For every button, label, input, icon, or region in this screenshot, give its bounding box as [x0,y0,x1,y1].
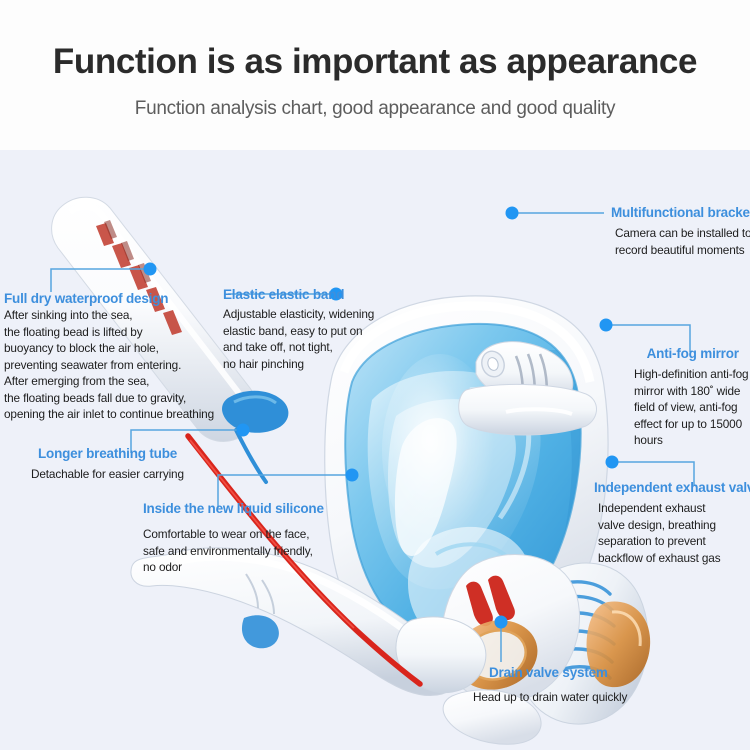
callout-line: Detachable for easier carrying [31,466,184,483]
callout-line: hours [634,432,748,449]
callout-line: Independent exhaust [598,500,750,517]
callout-full-dry-waterproof-design: Full dry waterproof design After sinking… [4,291,214,423]
callout-body: Comfortable to wear on the face, safe an… [143,526,324,576]
callout-heading: Multifunctional bracket [611,205,750,221]
callout-line: record beautiful moments [615,242,750,259]
callout-line: the floating beads fall due to gravity, [4,390,214,407]
callout-inside-the-new-liquid-silicone: Inside the new liquid silicone Comfortab… [143,501,324,576]
callout-body: Independent exhaust valve design, breath… [598,500,750,566]
callout-elastic-elastic-band: Elastic elastic band Adjustable elastici… [223,287,374,372]
callout-line: elastic band, easy to put on [223,323,374,340]
callout-line: the floating bead is lifted by [4,324,214,341]
callout-heading: Full dry waterproof design [4,291,214,307]
page-subtitle: Function analysis chart, good appearance… [0,98,750,120]
callout-line: safe and environmentally friendly, [143,543,324,560]
callout-heading: Inside the new liquid silicone [143,501,324,517]
callout-line: After sinking into the sea, [4,307,214,324]
callout-body: Camera can be installed to record beauti… [615,225,750,258]
page-title: Function is as important as appearance [0,42,750,82]
callout-body: Detachable for easier carrying [31,466,184,483]
diagram-panel: Full dry waterproof design After sinking… [0,150,750,750]
infographic-page: Function is as important as appearance F… [0,0,750,750]
callout-multifunctional-bracket: Multifunctional bracket Camera can be in… [611,205,750,258]
callout-line: no odor [143,559,324,576]
callout-line: separation to prevent [598,533,750,550]
callout-line: buoyancy to block the air hole, [4,340,214,357]
callout-line: Head up to drain water quickly [473,689,627,706]
callout-line: field of view, anti-fog [634,399,748,416]
callout-drain-valve-system: Drain valve system Head up to drain wate… [489,665,627,706]
callout-body: Adjustable elasticity, widening elastic … [223,306,374,372]
callout-line: Adjustable elasticity, widening [223,306,374,323]
callout-longer-breathing-tube: Longer breathing tube Detachable for eas… [38,446,184,483]
callout-heading: Drain valve system [489,665,627,681]
callout-line: mirror with 180˚ wide [634,383,748,400]
callout-line: valve design, breathing [598,517,750,534]
callout-body: After sinking into the sea, the floating… [4,307,214,423]
callout-independent-exhaust-valve: Independent exhaust valve Independent ex… [594,480,750,566]
callout-line: Comfortable to wear on the face, [143,526,324,543]
callout-body: High-definition anti-fog mirror with 180… [634,366,748,449]
header-band: Function is as important as appearance F… [0,0,750,150]
callout-anti-fog-mirror: Anti-fog mirror High-definition anti-fog… [637,346,748,449]
callout-heading: Independent exhaust valve [594,480,750,496]
callout-heading: Longer breathing tube [38,446,184,462]
callout-line: High-definition anti-fog [634,366,748,383]
callout-line: effect for up to 15000 [634,416,748,433]
callout-line: preventing seawater from entering. [4,357,214,374]
callout-line: opening the air inlet to continue breath… [4,406,214,423]
callout-line: Camera can be installed to [615,225,750,242]
callout-heading: Anti-fog mirror [637,346,748,362]
callout-body: Head up to drain water quickly [473,689,627,706]
callout-line: no hair pinching [223,356,374,373]
callout-line: After emerging from the sea, [4,373,214,390]
callout-line: backflow of exhaust gas [598,550,750,567]
callout-line: and take off, not tight, [223,339,374,356]
callout-heading: Elastic elastic band [223,287,374,303]
